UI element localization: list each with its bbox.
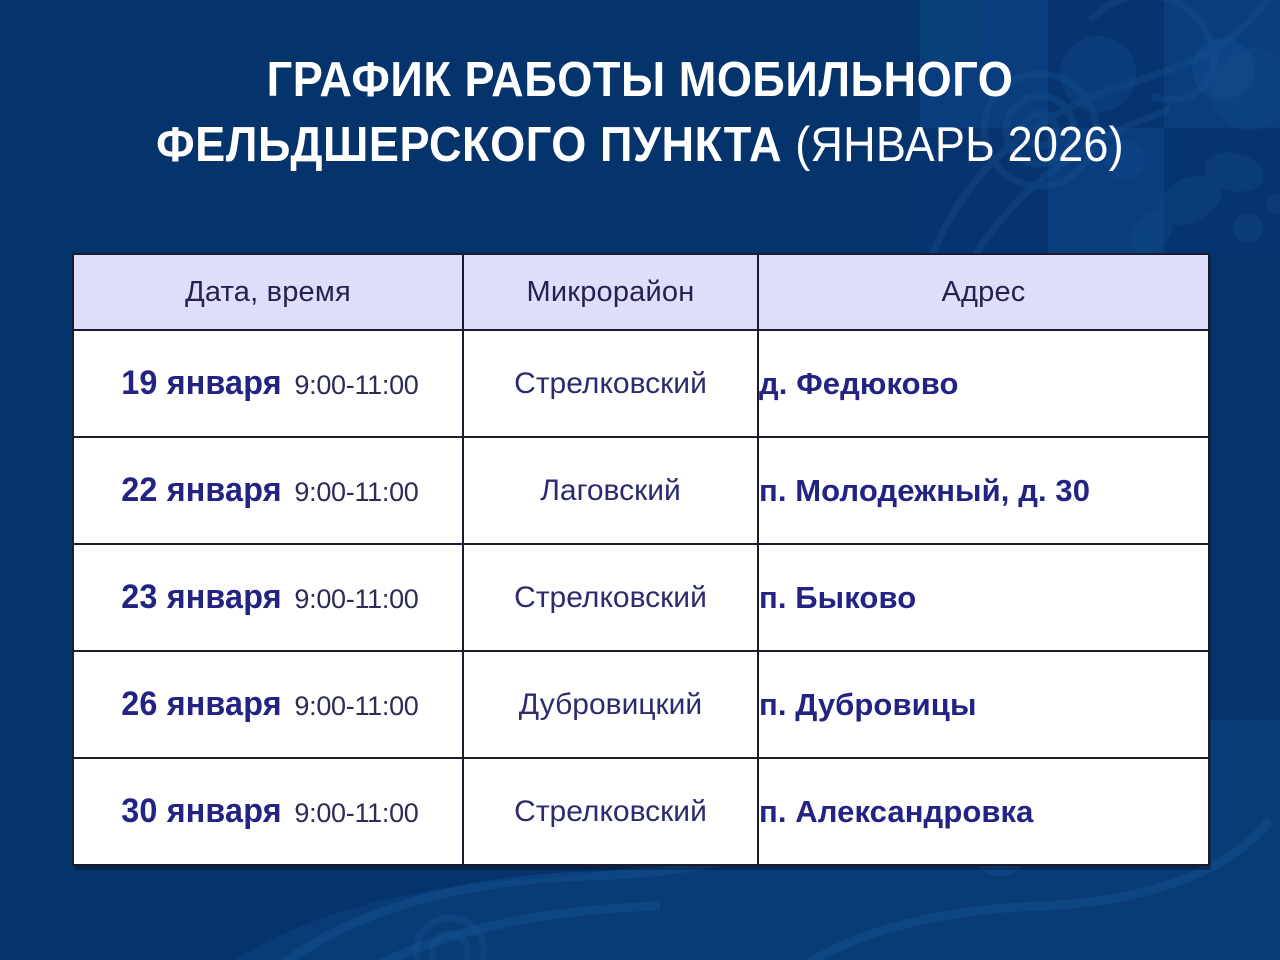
cell-district: Стрелковский	[463, 758, 758, 865]
column-header-address: Адрес	[758, 254, 1209, 330]
date-time: 9:00-11:00	[294, 477, 418, 507]
table-row: 22 января9:00-11:00 Лаговский п. Молодеж…	[73, 437, 1209, 544]
cell-address: п. Быково	[758, 544, 1209, 651]
cell-district: Стрелковский	[463, 544, 758, 651]
cell-date: 19 января9:00-11:00	[73, 330, 463, 437]
date-day: 19 января	[122, 364, 283, 403]
cell-date: 23 января9:00-11:00	[73, 544, 463, 651]
table-header: Дата, время Микрорайон Адрес	[73, 254, 1209, 330]
date-time: 9:00-11:00	[294, 584, 418, 614]
date-day: 26 января	[122, 685, 283, 724]
page-title: ГРАФИК РАБОТЫ МОБИЛЬНОГО ФЕЛЬДШЕРСКОГО П…	[0, 48, 1280, 177]
column-header-date: Дата, время	[73, 254, 463, 330]
table-row: 19 января9:00-11:00 Стрелковский д. Федю…	[73, 330, 1209, 437]
date-day: 23 января	[122, 578, 283, 617]
date-day: 30 января	[122, 792, 283, 831]
title-line-2-bold: ФЕЛЬДШЕРСКОГО ПУНКТА	[156, 118, 782, 172]
date-time: 9:00-11:00	[294, 798, 418, 828]
title-period: (ЯНВАРЬ 2026)	[795, 118, 1124, 172]
schedule-table-container: Дата, время Микрорайон Адрес 19 января9:…	[72, 253, 1208, 866]
table-row: 26 января9:00-11:00 Дубровицкий п. Дубро…	[73, 651, 1209, 758]
cell-address: п. Молодежный, д. 30	[758, 437, 1209, 544]
title-line-1: ГРАФИК РАБОТЫ МОБИЛЬНОГО	[51, 48, 1229, 113]
table-row: 23 января9:00-11:00 Стрелковский п. Быко…	[73, 544, 1209, 651]
table-header-row: Дата, время Микрорайон Адрес	[73, 254, 1209, 330]
column-header-district: Микрорайон	[463, 254, 758, 330]
cell-date: 30 января9:00-11:00	[73, 758, 463, 865]
date-time: 9:00-11:00	[294, 691, 418, 721]
cell-district: Стрелковский	[463, 330, 758, 437]
table-body: 19 января9:00-11:00 Стрелковский д. Федю…	[73, 330, 1209, 865]
schedule-table: Дата, время Микрорайон Адрес 19 января9:…	[72, 253, 1210, 866]
title-line-2: ФЕЛЬДШЕРСКОГО ПУНКТА (ЯНВАРЬ 2026)	[51, 113, 1229, 178]
cell-address: д. Федюково	[758, 330, 1209, 437]
date-day: 22 января	[122, 471, 283, 510]
cell-address: п. Дубровицы	[758, 651, 1209, 758]
cell-date: 26 января9:00-11:00	[73, 651, 463, 758]
cell-address: п. Александровка	[758, 758, 1209, 865]
date-time: 9:00-11:00	[294, 370, 418, 400]
cell-district: Дубровицкий	[463, 651, 758, 758]
cell-district: Лаговский	[463, 437, 758, 544]
table-row: 30 января9:00-11:00 Стрелковский п. Алек…	[73, 758, 1209, 865]
poster-root: ГРАФИК РАБОТЫ МОБИЛЬНОГО ФЕЛЬДШЕРСКОГО П…	[0, 0, 1280, 960]
cell-date: 22 января9:00-11:00	[73, 437, 463, 544]
